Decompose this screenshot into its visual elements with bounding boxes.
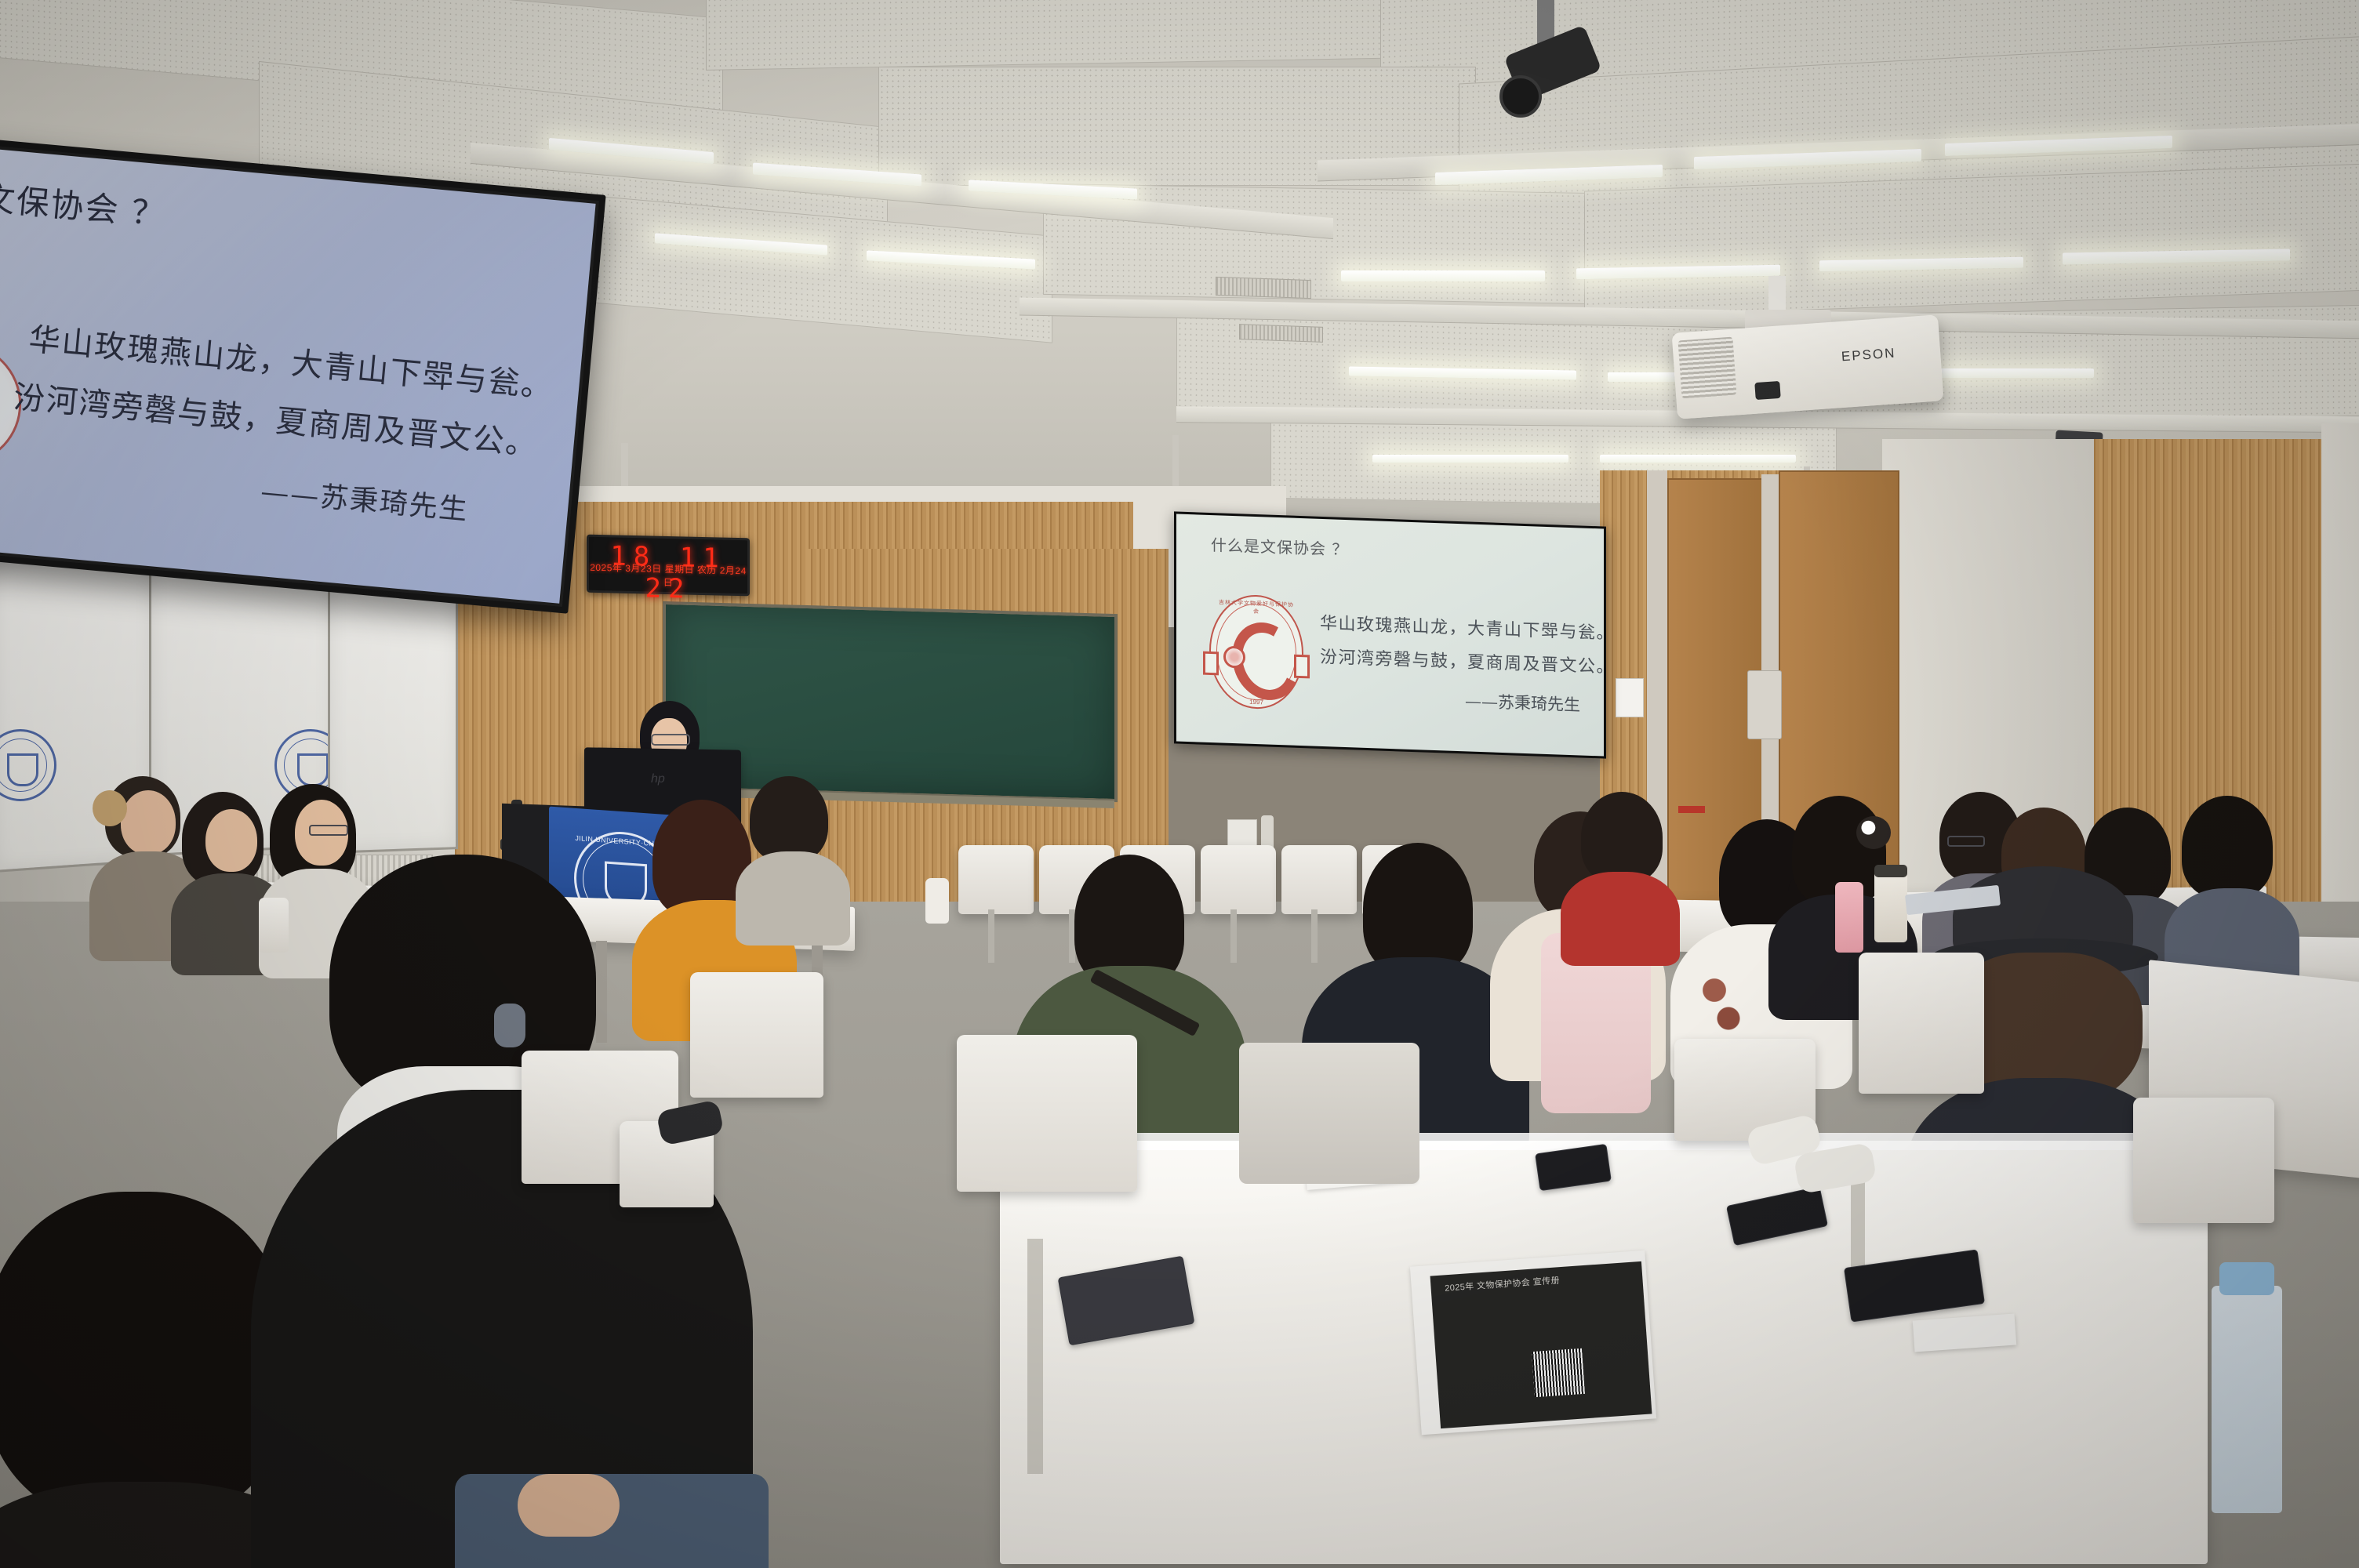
- glasses: [309, 825, 348, 836]
- chair[interactable]: [1239, 1043, 1419, 1184]
- slide-attribution: ——苏秉琦先生: [260, 469, 471, 528]
- ceiling-light: [1372, 455, 1568, 463]
- display-slide: 什么是文保协会 ？ 华山玫瑰燕山龙，大青山下斝与瓮。 汾河湾旁磬与鼓，夏商周及晋…: [0, 147, 596, 604]
- chair[interactable]: [957, 1035, 1137, 1192]
- ceiling-panel: [706, 0, 1413, 71]
- glasses: [1947, 836, 1985, 847]
- digital-clock: 18 11 22 2025年 3月23日 星期日 农历 2月24日: [587, 535, 750, 597]
- table-leg: [1027, 1239, 1043, 1474]
- audience-member: [2165, 796, 2298, 992]
- paper-cup[interactable]: [925, 878, 949, 924]
- projector-vent-grille: [1678, 337, 1737, 399]
- wall-display: 什么是文保协会 ？ 华山玫瑰燕山龙，大青山下斝与瓮。 汾河湾旁磬与鼓，夏商周及晋…: [0, 137, 606, 614]
- hoodie-graphic: [1686, 953, 1757, 1047]
- door-indicator: [1678, 806, 1705, 813]
- slide-quote-line-2: 汾河湾旁磬与鼓，夏商周及晋文公。: [1320, 643, 1604, 678]
- water-bottle[interactable]: [2212, 1286, 2282, 1513]
- slide-title: 什么是文保协会 ？: [1211, 532, 1348, 560]
- table-leg: [1851, 1176, 1865, 1270]
- slide-quote-line-1: 华山玫瑰燕山龙，大青山下斝与瓮。: [1320, 609, 1604, 644]
- projected-slide: 什么是文保协会 ？ 吉林大学文物爱好与保护协会 1997 华山玫瑰燕山龙，大青山…: [1176, 514, 1604, 756]
- slide-title: 什么是文保协会 ？: [0, 162, 168, 236]
- right-wall-far: [2321, 423, 2359, 972]
- chair[interactable]: [1859, 953, 1984, 1094]
- hair: [1581, 792, 1663, 883]
- door-access-panel[interactable]: [1747, 670, 1782, 739]
- lecture-hall-photo: EPSON 什么是文保协会 ？: [0, 0, 2359, 1568]
- thermos-lid: [1874, 865, 1907, 877]
- association-emblem: 吉林大学文物爱好与保护协会 1997: [1209, 593, 1303, 710]
- ceiling-sensor-arm: [1172, 435, 1179, 492]
- hair-accessory: [1856, 816, 1891, 849]
- ceiling-light: [1341, 270, 1545, 281]
- hp-monitor-logo: hp: [651, 772, 665, 786]
- track-spotlight-lens: [1499, 75, 1542, 118]
- earbud: [494, 1004, 525, 1047]
- door-notice-paper: [1616, 678, 1644, 717]
- projector-lens: [1754, 381, 1780, 400]
- beige-thermos[interactable]: [1874, 870, 1907, 942]
- pink-thermos[interactable]: [1835, 882, 1863, 953]
- qr-code[interactable]: [1532, 1348, 1585, 1397]
- emblem-right-tab: [1294, 655, 1310, 679]
- emblem-left-tab: [1203, 652, 1219, 676]
- presenter-glasses: [651, 734, 690, 746]
- ceiling-air-vent: [1216, 277, 1311, 299]
- rose-icon: [1223, 646, 1245, 669]
- ceiling-light: [1600, 455, 1796, 463]
- head: [205, 809, 257, 872]
- hand: [518, 1474, 620, 1537]
- chair[interactable]: [690, 972, 823, 1098]
- hair: [1363, 843, 1473, 975]
- hair: [2182, 796, 2273, 898]
- body: [1561, 872, 1680, 966]
- hair: [0, 1192, 290, 1521]
- chair[interactable]: [2133, 1098, 2274, 1223]
- head: [121, 790, 176, 855]
- audience-member-foreground: [282, 855, 753, 1568]
- paper-cup[interactable]: [259, 898, 289, 953]
- projection-screen: 什么是文保协会 ？ 吉林大学文物爱好与保护协会 1997 华山玫瑰燕山龙，大青山…: [1174, 511, 1606, 758]
- bottle-cap[interactable]: [2219, 1262, 2274, 1295]
- audience-member: [737, 776, 847, 933]
- hair-clip: [93, 790, 127, 826]
- audience-member: [1561, 792, 1678, 949]
- slide-attribution: ——苏秉琦先生: [1465, 688, 1580, 716]
- clock-date: 2025年 3月23日 星期日 农历 2月24日: [589, 561, 747, 591]
- ceiling-air-vent: [1239, 324, 1323, 343]
- hair: [750, 776, 828, 862]
